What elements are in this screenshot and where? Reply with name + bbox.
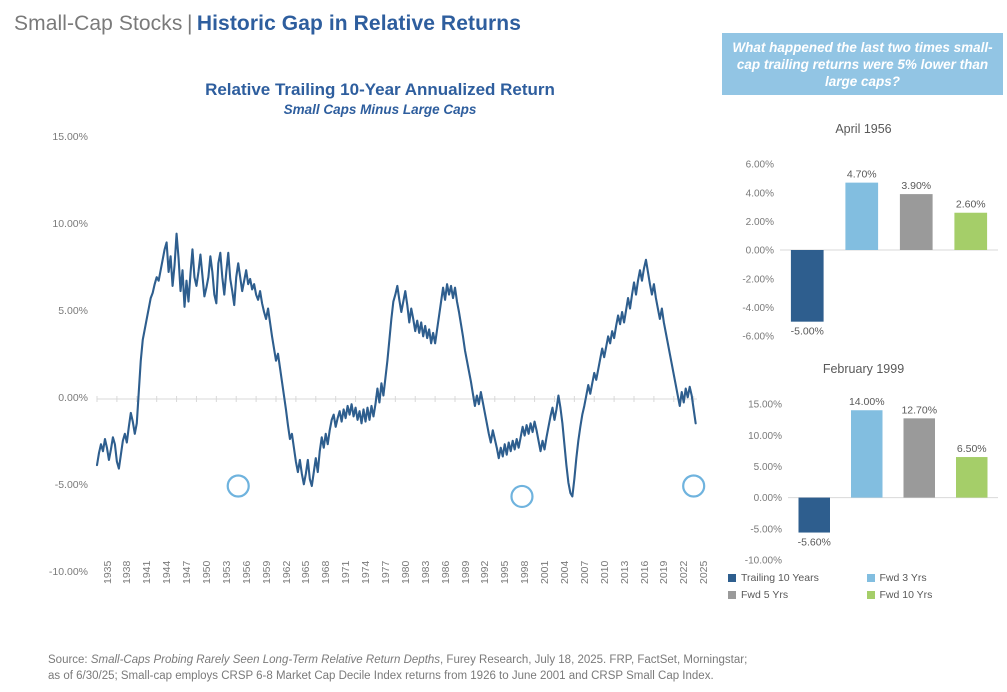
bar-y-axis-tick-label: 2.00% xyxy=(746,217,774,228)
bar-value-label: -5.00% xyxy=(791,326,824,338)
x-axis-tick-label: 2007 xyxy=(579,561,591,584)
x-axis-tick-label: 1998 xyxy=(519,561,531,584)
y-axis-tick-label: 15.00% xyxy=(28,131,88,143)
source-title-italic: Small-Caps Probing Rarely Seen Long-Term… xyxy=(91,654,440,666)
x-axis-tick-label: 1941 xyxy=(141,561,153,584)
bar-y-axis-tick-label: 0.00% xyxy=(754,493,782,504)
source-prefix: Source: xyxy=(48,654,91,666)
bar-fwd-10-yrs xyxy=(956,457,988,498)
x-axis-tick-label: 2001 xyxy=(539,561,551,584)
y-axis-tick-label: -10.00% xyxy=(28,566,88,578)
y-axis-tick-label: 10.00% xyxy=(28,218,88,230)
source-note: Source: Small-Caps Probing Rarely Seen L… xyxy=(48,652,748,684)
legend-item-trailing-10-years: Trailing 10 Years xyxy=(728,572,867,584)
bar-y-axis-tick-label: 15.00% xyxy=(748,400,782,411)
x-axis-tick-label: 1968 xyxy=(320,561,332,584)
legend-swatch-icon xyxy=(728,591,736,599)
bar-trailing-10-years xyxy=(799,498,831,533)
bar-chart-svg-2: 15.00%10.00%5.00%0.00%-5.00%-10.00%-5.60… xyxy=(722,380,1005,576)
main-line-chart: 15.00%10.00%5.00%0.00%-5.00%-10.00% 1935… xyxy=(0,0,720,640)
bar-fwd-3-yrs xyxy=(851,410,883,497)
legend-swatch-icon xyxy=(867,574,875,582)
x-axis-tick-label: 1977 xyxy=(380,561,392,584)
x-axis-tick-label: 1986 xyxy=(440,561,452,584)
bar-fwd-3-yrs xyxy=(845,183,878,250)
callout-text: What happened the last two times small-c… xyxy=(728,39,997,90)
legend-swatch-icon xyxy=(728,574,736,582)
main-chart-svg xyxy=(0,0,720,640)
bar-chart-svg-1: 6.00%4.00%2.00%0.00%-2.00%-4.00%-6.00%-5… xyxy=(722,140,1005,352)
bar-chart-title-2: February 1999 xyxy=(722,362,1005,376)
bar-y-axis-tick-label: 6.00% xyxy=(746,160,774,171)
x-axis-tick-label: 1935 xyxy=(102,561,114,584)
bar-trailing-10-years xyxy=(791,250,824,322)
bar-y-axis-tick-label: 0.00% xyxy=(746,246,774,257)
x-axis-tick-label: 1995 xyxy=(499,561,511,584)
bar-fwd-5-yrs xyxy=(904,418,936,497)
bar-value-label: -5.60% xyxy=(798,537,831,549)
legend-item-fwd-10-yrs: Fwd 10 Yrs xyxy=(867,589,1006,601)
bar-value-label: 4.70% xyxy=(847,169,877,181)
bar-y-axis-tick-label: 4.00% xyxy=(746,188,774,199)
x-axis-tick-label: 2013 xyxy=(619,561,631,584)
x-axis-tick-label: 1947 xyxy=(181,561,193,584)
bar-chart-panel-april-1956: April 1956 6.00%4.00%2.00%0.00%-2.00%-4.… xyxy=(722,122,1005,352)
legend-label: Fwd 10 Yrs xyxy=(880,589,933,601)
legend-label: Fwd 3 Yrs xyxy=(880,572,927,584)
legend-item-fwd-5-yrs: Fwd 5 Yrs xyxy=(728,589,867,601)
bar-fwd-10-yrs xyxy=(954,213,987,250)
x-axis-tick-label: 1959 xyxy=(261,561,273,584)
bar-y-axis-tick-label: 5.00% xyxy=(754,462,782,473)
x-axis-tick-label: 2016 xyxy=(639,561,651,584)
y-axis-tick-label: 5.00% xyxy=(28,305,88,317)
bar-chart-panel-february-1999: February 1999 15.00%10.00%5.00%0.00%-5.0… xyxy=(722,362,1005,577)
x-axis-tick-label: 1950 xyxy=(201,561,213,584)
callout-question-box: What happened the last two times small-c… xyxy=(722,33,1003,95)
x-axis-tick-label: 1938 xyxy=(121,561,133,584)
x-axis-tick-label: 1980 xyxy=(400,561,412,584)
bar-y-axis-tick-label: -10.00% xyxy=(745,556,782,567)
x-axis-tick-label: 1953 xyxy=(221,561,233,584)
legend-item-fwd-3-yrs: Fwd 3 Yrs xyxy=(867,572,1006,584)
bar-value-label: 3.90% xyxy=(901,180,931,192)
x-axis-tick-label: 1992 xyxy=(479,561,491,584)
x-axis-tick-label: 2019 xyxy=(658,561,670,584)
y-axis-tick-label: -5.00% xyxy=(28,479,88,491)
bar-y-axis-tick-label: -2.00% xyxy=(742,274,774,285)
bar-value-label: 2.60% xyxy=(956,199,986,211)
x-axis-tick-label: 1983 xyxy=(420,561,432,584)
x-axis-tick-label: 1956 xyxy=(241,561,253,584)
legend-label: Trailing 10 Years xyxy=(741,572,819,584)
bar-y-axis-tick-label: -6.00% xyxy=(742,332,774,343)
bar-y-axis-tick-label: -5.00% xyxy=(750,524,782,535)
bar-fwd-5-yrs xyxy=(900,194,933,250)
x-axis-tick-label: 1974 xyxy=(360,561,372,584)
x-axis-tick-label: 2022 xyxy=(678,561,690,584)
x-axis-tick-label: 2010 xyxy=(599,561,611,584)
x-axis-tick-label: 1965 xyxy=(300,561,312,584)
bar-value-label: 14.00% xyxy=(849,396,885,408)
bar-value-label: 6.50% xyxy=(957,443,987,455)
x-axis-tick-label: 1962 xyxy=(281,561,293,584)
x-axis-tick-label: 1989 xyxy=(460,561,472,584)
bar-chart-title-1: April 1956 xyxy=(722,122,1005,136)
x-axis-tick-label: 1944 xyxy=(161,561,173,584)
x-axis-tick-label: 2004 xyxy=(559,561,571,584)
legend-label: Fwd 5 Yrs xyxy=(741,589,788,601)
bar-y-axis-tick-label: -4.00% xyxy=(742,303,774,314)
bar-value-label: 12.70% xyxy=(901,404,937,416)
bar-chart-legend: Trailing 10 Years Fwd 3 Yrs Fwd 5 Yrs Fw… xyxy=(728,572,1005,601)
bar-y-axis-tick-label: 10.00% xyxy=(748,431,782,442)
y-axis-tick-label: 0.00% xyxy=(28,392,88,404)
x-axis-tick-label: 1971 xyxy=(340,561,352,584)
x-axis-tick-label: 2025 xyxy=(698,561,710,584)
legend-swatch-icon xyxy=(867,591,875,599)
